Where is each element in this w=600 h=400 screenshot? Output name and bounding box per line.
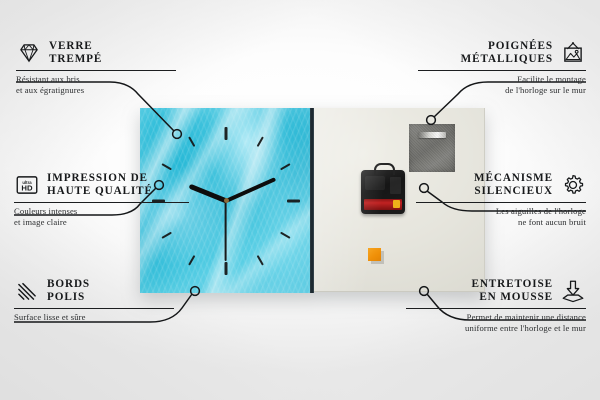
polished-edges-icon [14,278,40,304]
clock-tick [188,255,195,266]
callout-entretoise-en-mousse: ENTRETOISE EN MOUSSE Permet de maintenir… [406,278,586,333]
battery [364,199,402,210]
clock-tick [225,262,228,275]
callout-subtitle-line1: Permet de maintenir une distance [406,312,586,323]
diamond-icon [16,40,42,66]
callout-subtitle-line1: Surface lisse et sûre [14,312,174,323]
callout-subtitle-line1: Facilite le montage [418,74,586,85]
ultra-hd-icon: ultra HD [14,172,40,198]
callout-title: ENTRETOISE EN MOUSSE [471,278,553,303]
clock-tick [161,163,172,170]
callout-header: BORDS POLIS [14,278,174,304]
clock-hour-hand [188,183,227,203]
clock-center-cap [224,198,229,203]
callout-subtitle-line1: Les aiguilles de l'horloge [416,206,586,217]
callout-divider [16,70,176,71]
callout-header: ENTRETOISE EN MOUSSE [406,278,586,304]
quartz-mechanism-box [361,170,405,214]
clock-tick [280,231,291,238]
clock-tick [161,231,172,238]
callout-verre-trempe: VERRE TREMPÉ Résistant aux bris et aux é… [16,40,176,95]
clock-tick [257,255,264,266]
callout-header: MÉCANISME SILENCIEUX [416,172,586,198]
hanging-frame-icon [560,40,586,66]
callout-subtitle-line2: de l'horloge sur le mur [418,85,586,96]
callout-divider [416,202,586,203]
callout-title: MÉCANISME SILENCIEUX [474,172,553,197]
metal-hanging-handle [409,124,455,172]
callout-divider [406,308,586,309]
callout-title: BORDS POLIS [47,278,90,303]
clock-tick [225,127,228,140]
callout-divider [14,308,174,309]
callout-subtitle-line1: Couleurs intenses [14,206,189,217]
callout-subtitle-line2: uniforme entre l'horloge et le mur [406,323,586,334]
mechanism-panel-detail [365,176,385,190]
clock-tick [188,136,195,147]
callout-header: VERRE TREMPÉ [16,40,176,66]
callout-subtitle-line2: et image claire [14,217,189,228]
foam-spacer [368,248,381,261]
callout-subtitle-line2: et aux égratignures [16,85,176,96]
clock-tick [257,136,264,147]
callout-poignees-metalliques: POIGNÉES MÉTALLIQUES Facilite le montage… [418,40,586,95]
foam-spacer-icon [560,278,586,304]
hanging-loop [374,163,395,175]
callout-bords-polis: BORDS POLIS Surface lisse et sûre [14,278,174,323]
callout-divider [418,70,586,71]
svg-text:HD: HD [21,184,33,193]
callout-subtitle-line2: ne font aucun bruit [416,217,586,228]
callout-title: VERRE TREMPÉ [49,40,102,65]
mechanism-switch-detail [390,177,401,194]
callout-title: POIGNÉES MÉTALLIQUES [461,40,553,65]
callout-header: POIGNÉES MÉTALLIQUES [418,40,586,66]
callout-header: ultra HD IMPRESSION DE HAUTE QUALITÉ [14,172,189,198]
gear-icon [560,172,586,198]
callout-impression-haute-qualite: ultra HD IMPRESSION DE HAUTE QUALITÉ Cou… [14,172,189,227]
clock-tick [280,163,291,170]
infographic-canvas: VERRE TREMPÉ Résistant aux bris et aux é… [0,0,600,400]
callout-title: IMPRESSION DE HAUTE QUALITÉ [47,172,153,197]
callout-mecanisme-silencieux: MÉCANISME SILENCIEUX Les aiguilles de l'… [416,172,586,227]
clock-tick [287,199,300,202]
callout-divider [14,202,189,203]
clock-second-hand [225,201,227,261]
callout-subtitle-line1: Résistant aux bris [16,74,176,85]
clock-minute-hand [225,177,276,203]
